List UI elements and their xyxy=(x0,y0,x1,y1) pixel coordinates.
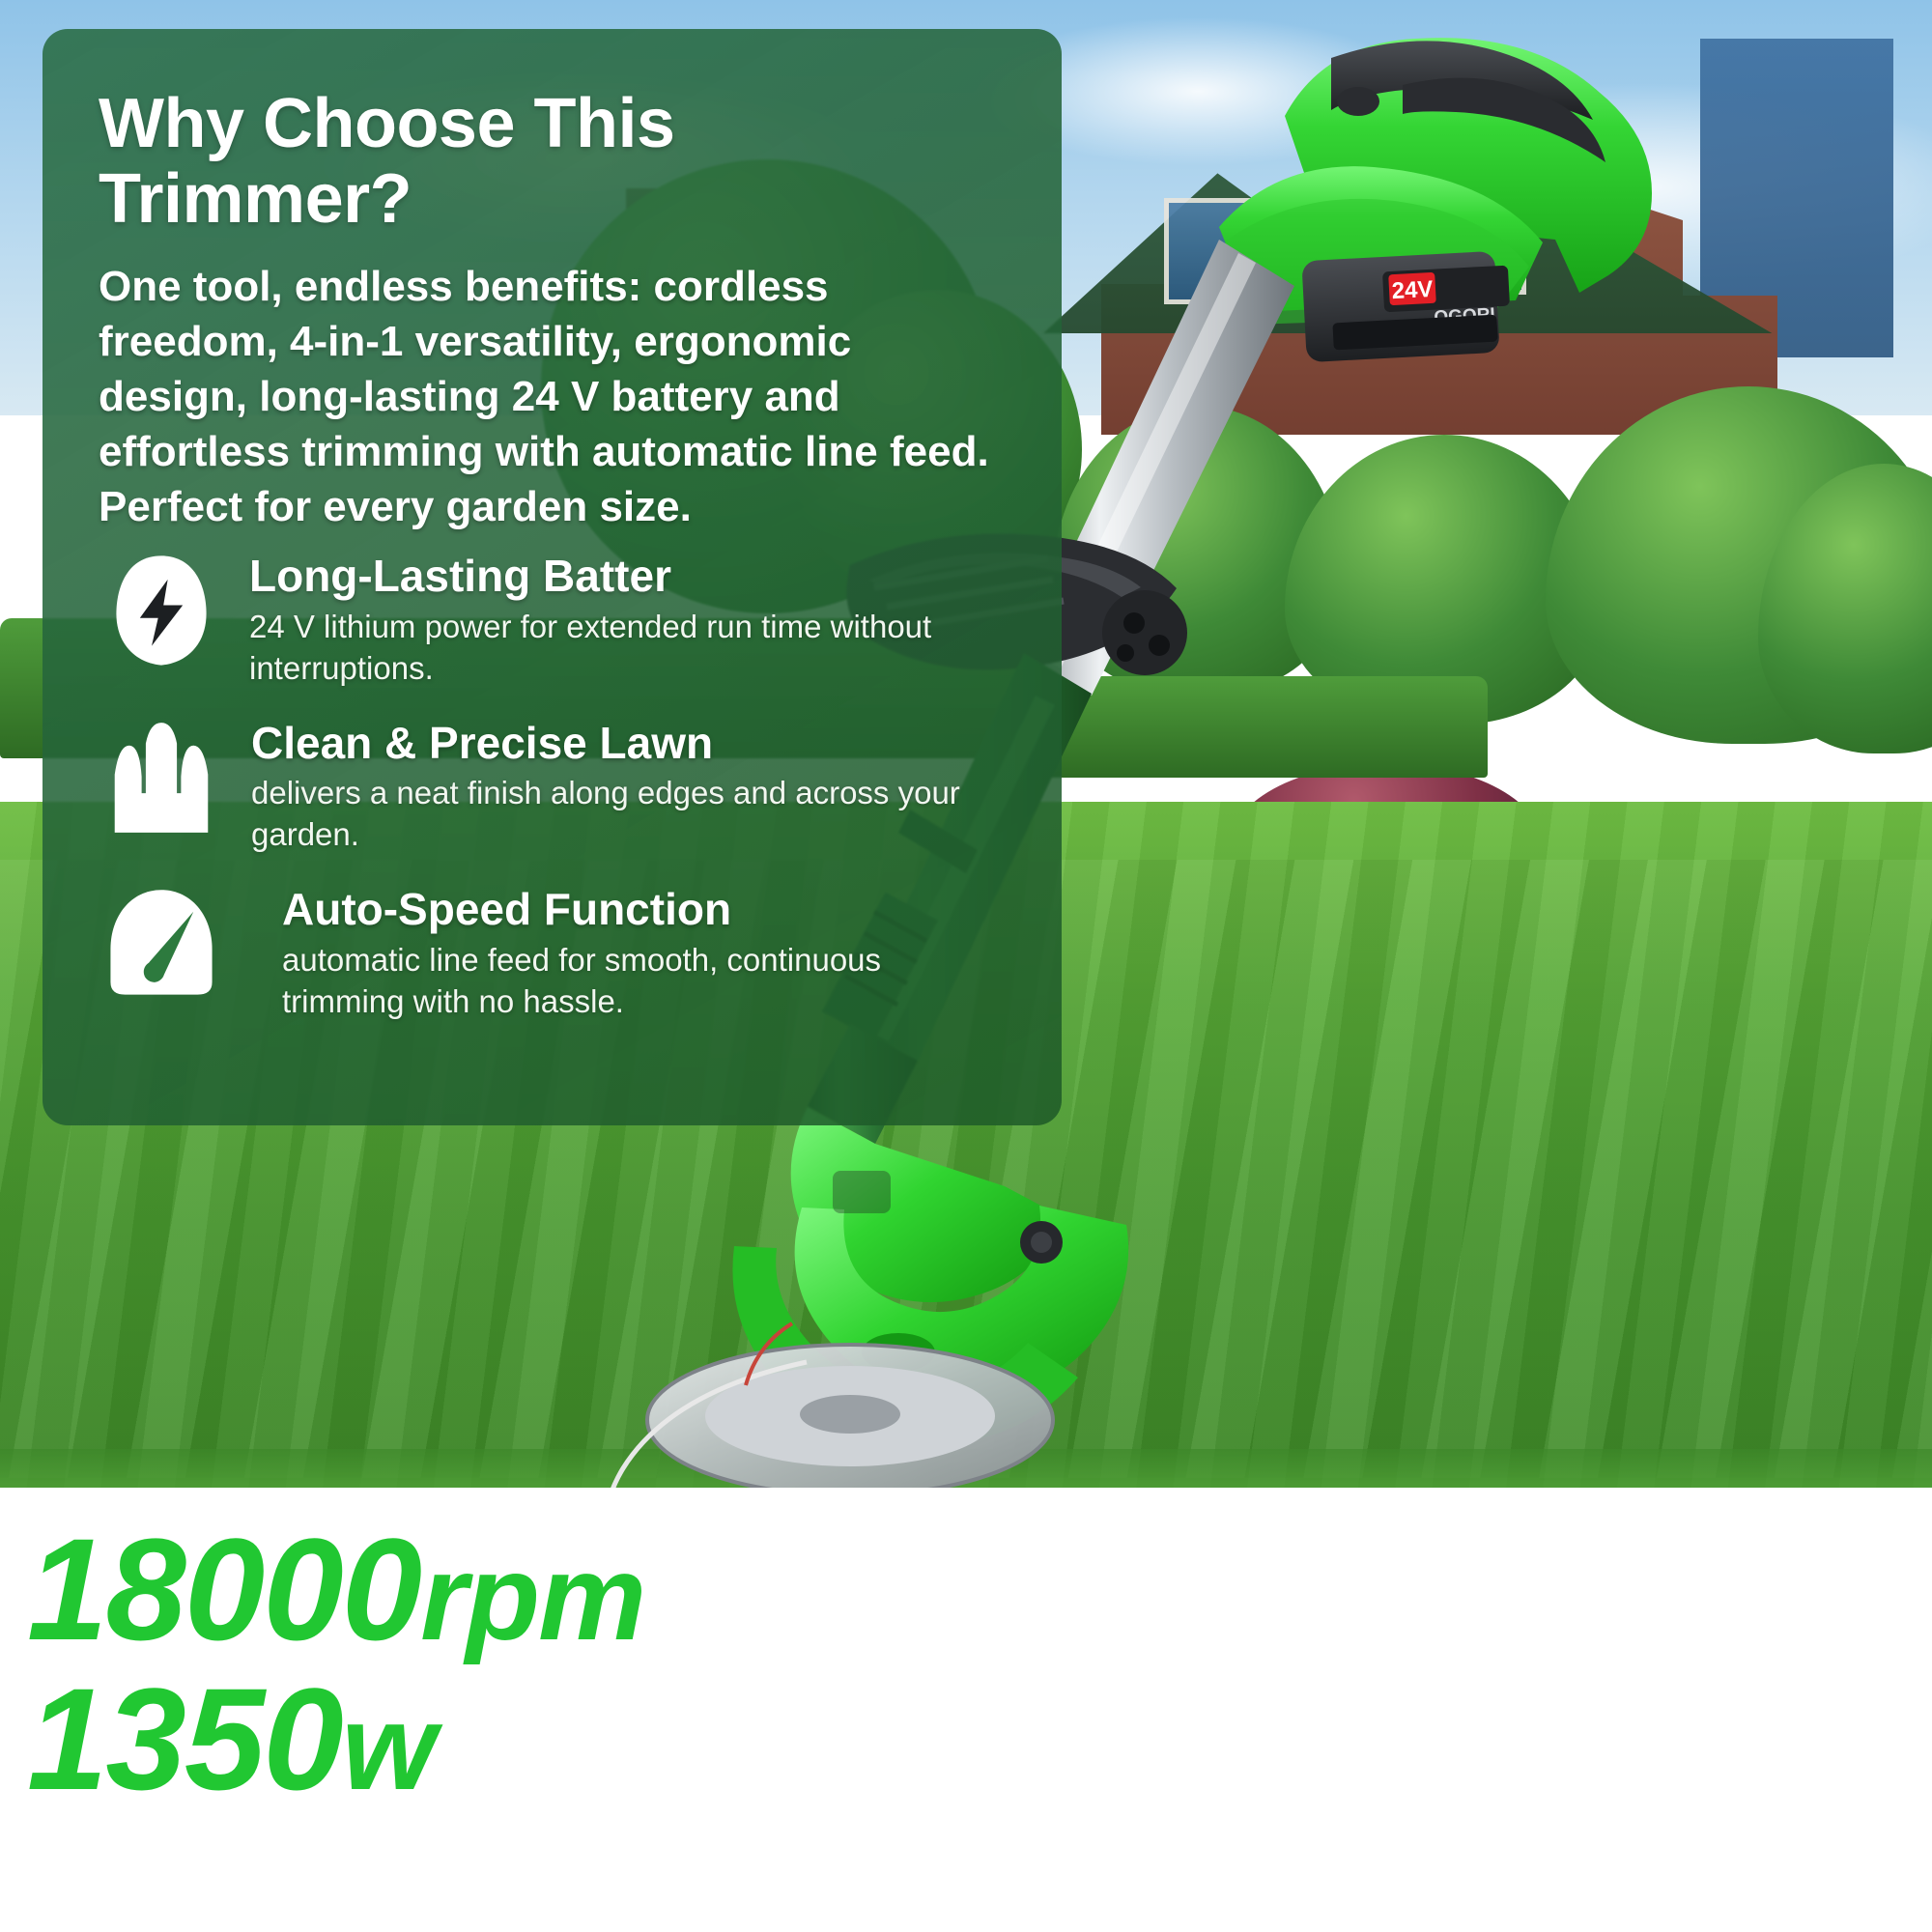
lawn-foreground-band xyxy=(0,1449,1932,1488)
panel-description: One tool, endless benefits: cordless fre… xyxy=(99,259,1006,535)
feature-title: Long-Lasting Batter xyxy=(249,552,1006,601)
feature-description: delivers a neat finish along edges and a… xyxy=(251,773,1006,856)
feature-description: 24 V lithium power for extended run time… xyxy=(249,607,1006,690)
spec-banner: 18000rpm 1350w xyxy=(0,1488,1932,1932)
grass-blades-icon xyxy=(99,715,224,840)
house-window xyxy=(1164,198,1256,304)
hedge xyxy=(1024,676,1488,778)
spec-figures: 18000rpm 1350w xyxy=(27,1515,644,1813)
feature-list: Long-Lasting Batter 24 V lithium power f… xyxy=(99,548,1006,1022)
spec-rpm-unit: rpm xyxy=(420,1529,644,1665)
feature-item-lawn: Clean & Precise Lawn delivers a neat fin… xyxy=(99,715,1006,856)
why-choose-panel: Why Choose This Trimmer? One tool, endle… xyxy=(43,29,1062,1125)
speedometer-icon xyxy=(99,881,224,1007)
spec-watt: 1350w xyxy=(27,1664,644,1814)
spec-rpm: 18000rpm xyxy=(27,1515,644,1664)
feature-title: Clean & Precise Lawn xyxy=(251,719,1006,768)
feature-description: automatic line feed for smooth, continuo… xyxy=(282,940,1006,1023)
spec-watt-unit: w xyxy=(342,1679,435,1815)
feature-title: Auto-Speed Function xyxy=(282,885,1006,934)
spec-rpm-value: 18000 xyxy=(27,1508,420,1670)
leaf-bolt-icon xyxy=(99,548,224,673)
spec-watt-value: 1350 xyxy=(27,1658,342,1820)
house-window xyxy=(1449,203,1526,295)
house-window xyxy=(1306,169,1388,266)
feature-item-battery: Long-Lasting Batter 24 V lithium power f… xyxy=(99,548,1006,689)
feature-item-speed: Auto-Speed Function automatic line feed … xyxy=(99,881,1006,1022)
page-title: Why Choose This Trimmer? xyxy=(99,87,1006,238)
